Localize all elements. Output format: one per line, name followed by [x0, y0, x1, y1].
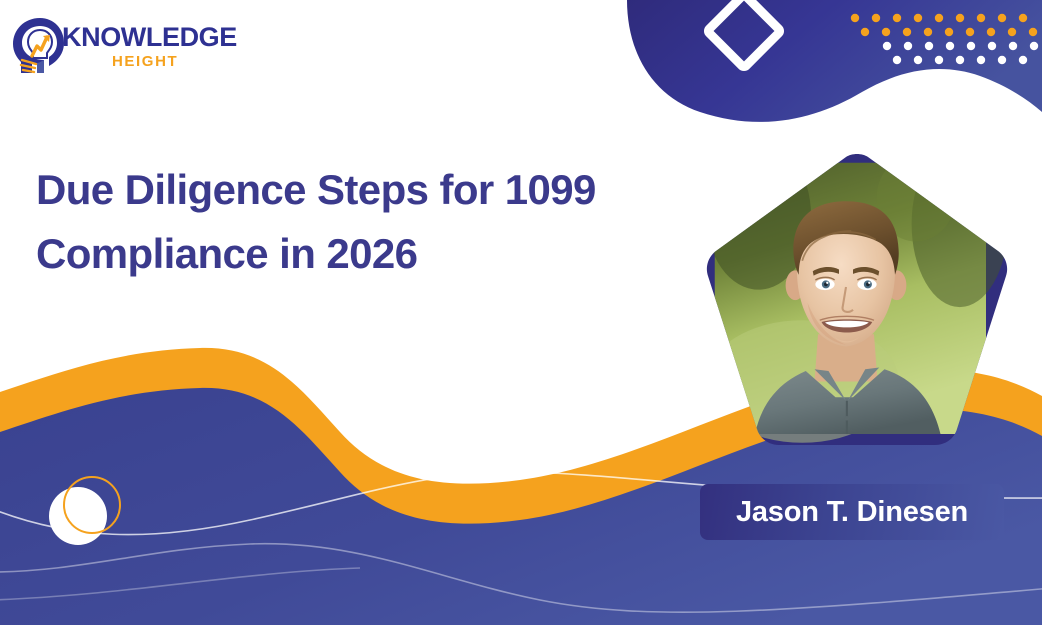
webinar-promo-banner: KNOWLEDGE HEIGHT Due Diligence Steps for… [0, 0, 1042, 625]
webinar-title: Due Diligence Steps for 1099 Compliance … [36, 158, 686, 286]
logo-primary-text: KNOWLEDGE [62, 24, 237, 51]
logo-secondary-text: HEIGHT [112, 54, 178, 69]
speaker-name-plate: Jason T. Dinesen [700, 484, 1004, 540]
brand-logo[interactable]: KNOWLEDGE HEIGHT [10, 14, 225, 78]
head-lightbulb-arrow-icon [10, 16, 66, 76]
speaker-name: Jason T. Dinesen [736, 496, 968, 529]
top-right-navy-blob [627, 0, 1042, 122]
circle-decoration-group [49, 477, 120, 545]
white-filled-circle [49, 487, 107, 545]
speaker-headshot-image [706, 143, 1008, 443]
dot-grid-decoration [851, 14, 1038, 64]
diamond-outline-icon [707, 0, 781, 68]
pentagon-photo [676, 143, 1016, 478]
speaker-photo-frame [676, 143, 1016, 478]
logo-wordmark: KNOWLEDGE HEIGHT [62, 24, 237, 69]
orange-outline-circle [64, 477, 120, 533]
